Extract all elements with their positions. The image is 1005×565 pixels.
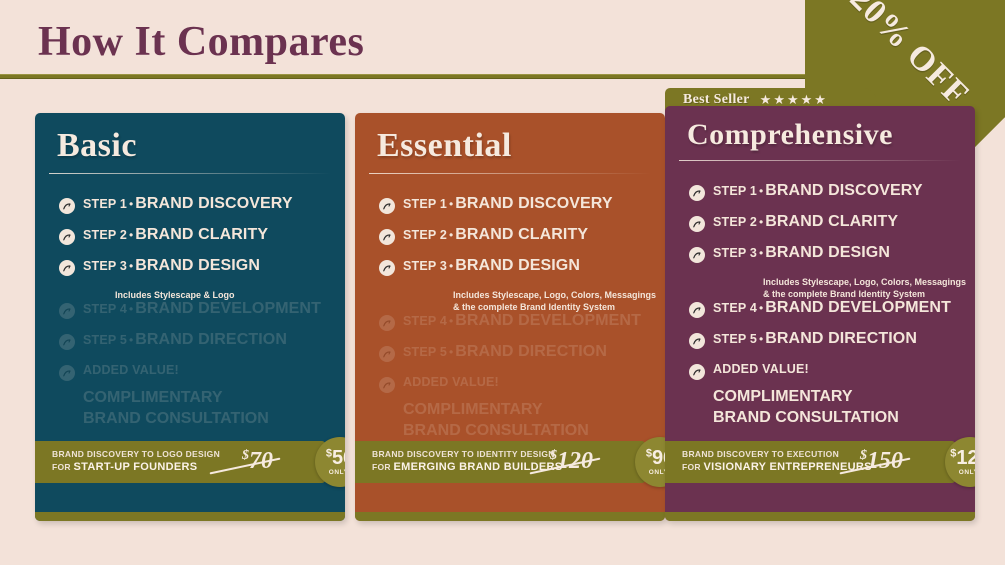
step-list: STEP 1•BRAND DISCOVERYSTEP 2•BRAND CLARI…: [35, 174, 345, 430]
step-label: STEP 3•BRAND DESIGN: [403, 257, 580, 274]
step-body: STEP 4•BRAND DEVELOPMENT: [403, 313, 641, 330]
step-number: STEP 4: [403, 314, 447, 328]
step-body: STEP 1•BRAND DISCOVERY: [713, 183, 923, 200]
pricing-cards-container: BasicSTEP 1•BRAND DISCOVERYSTEP 2•BRAND …: [0, 0, 1005, 565]
added-value-detail: COMPLIMENTARYBRAND CONSULTATION: [83, 388, 345, 430]
step-label: STEP 5•BRAND DIRECTION: [713, 330, 917, 347]
card-title: Essential: [355, 113, 665, 165]
check-swoosh-icon: [689, 364, 705, 380]
step-body: STEP 2•BRAND CLARITY: [83, 227, 268, 244]
pricing-card-comprehensive[interactable]: ComprehensiveSTEP 1•BRAND DISCOVERYSTEP …: [665, 106, 975, 521]
step-number: STEP 2: [83, 228, 127, 242]
step-label: STEP 5•BRAND DIRECTION: [403, 343, 607, 360]
step-item: STEP 2•BRAND CLARITY: [379, 227, 665, 245]
pricing-card-basic[interactable]: BasicSTEP 1•BRAND DISCOVERYSTEP 2•BRAND …: [35, 113, 345, 521]
step-item: STEP 3•BRAND DESIGN: [689, 245, 975, 263]
step-title: BRAND DEVELOPMENT: [765, 299, 951, 316]
price-footer-bar: BRAND DISCOVERY TO EXECUTIONFOR VISIONAR…: [665, 441, 955, 483]
card-bottom-strip: [665, 512, 975, 521]
currency-symbol: $: [860, 448, 867, 463]
check-swoosh-icon: [59, 198, 75, 214]
step-title: BRAND DESIGN: [455, 257, 580, 274]
step-body: STEP 4•BRAND DEVELOPMENT: [83, 301, 321, 318]
added-value-detail: COMPLIMENTARYBRAND CONSULTATION: [713, 387, 975, 429]
discounted-price: $96: [646, 448, 665, 468]
step-number: STEP 5: [403, 345, 447, 359]
step-title: BRAND DISCOVERY: [455, 195, 612, 212]
currency-symbol: $: [550, 448, 557, 463]
step-number: STEP 3: [83, 259, 127, 273]
step-title: BRAND CLARITY: [455, 226, 588, 243]
step-sub-note: Includes Stylescape, Logo, Colors, Messa…: [763, 276, 975, 300]
price-scope-line: BRAND DISCOVERY TO LOGO DESIGN: [52, 449, 220, 460]
step-body: STEP 3•BRAND DESIGN: [83, 258, 260, 275]
step-title: BRAND CLARITY: [765, 213, 898, 230]
card-title: Comprehensive: [665, 106, 975, 152]
check-swoosh-icon: [689, 333, 705, 349]
step-label: STEP 4•BRAND DEVELOPMENT: [403, 312, 641, 329]
check-swoosh-icon: [379, 229, 395, 245]
step-list: STEP 1•BRAND DISCOVERYSTEP 2•BRAND CLARI…: [355, 174, 665, 442]
step-label: STEP 4•BRAND DEVELOPMENT: [713, 299, 951, 316]
step-body: STEP 1•BRAND DISCOVERY: [83, 196, 293, 213]
step-label: STEP 2•BRAND CLARITY: [83, 226, 268, 243]
step-label: STEP 4•BRAND DEVELOPMENT: [83, 300, 321, 317]
step-item: STEP 1•BRAND DISCOVERY: [59, 196, 345, 214]
step-number: STEP 1: [83, 197, 127, 211]
step-label: STEP 2•BRAND CLARITY: [403, 226, 588, 243]
step-body: STEP 5•BRAND DIRECTION: [713, 331, 917, 348]
added-value-title: ADDED VALUE!: [403, 375, 499, 389]
step-title: BRAND DESIGN: [135, 257, 260, 274]
step-title: BRAND CLARITY: [135, 226, 268, 243]
step-number: STEP 2: [403, 228, 447, 242]
step-item: STEP 5•BRAND DIRECTION: [689, 331, 975, 349]
price-audience-line: FOR START-UP FOUNDERS: [52, 460, 220, 475]
check-swoosh-icon: [689, 216, 705, 232]
price-scope-line: BRAND DISCOVERY TO IDENTITY DESIGN: [372, 449, 562, 460]
check-swoosh-icon: [59, 260, 75, 276]
step-item: STEP 1•BRAND DISCOVERY: [689, 183, 975, 201]
only-label: ONLY!: [329, 469, 345, 476]
step-body: STEP 3•BRAND DESIGN: [713, 245, 890, 262]
only-label: ONLY!: [959, 469, 975, 476]
step-item: STEP 1•BRAND DISCOVERY: [379, 196, 665, 214]
step-number: STEP 2: [713, 215, 757, 229]
check-swoosh-icon: [379, 260, 395, 276]
discounted-price: $120: [950, 448, 975, 468]
step-title: BRAND DIRECTION: [135, 331, 287, 348]
step-title: BRAND DISCOVERY: [765, 182, 922, 199]
check-swoosh-icon: [59, 365, 75, 381]
step-label: STEP 5•BRAND DIRECTION: [83, 331, 287, 348]
step-title: BRAND DIRECTION: [765, 330, 917, 347]
step-number: STEP 5: [83, 333, 127, 347]
price-copy: BRAND DISCOVERY TO LOGO DESIGNFOR START-…: [52, 449, 220, 475]
step-label: STEP 3•BRAND DESIGN: [83, 257, 260, 274]
check-swoosh-icon: [379, 377, 395, 393]
step-title: BRAND DIRECTION: [455, 343, 607, 360]
step-item: STEP 4•BRAND DEVELOPMENT: [379, 313, 665, 331]
step-number: STEP 1: [713, 184, 757, 198]
step-item: STEP 5•BRAND DIRECTION: [379, 344, 665, 362]
step-label: STEP 1•BRAND DISCOVERY: [83, 195, 293, 212]
added-value-item: ADDED VALUE!: [379, 375, 665, 393]
price-scope-line: BRAND DISCOVERY TO EXECUTION: [682, 449, 872, 460]
step-item: STEP 2•BRAND CLARITY: [689, 214, 975, 232]
step-body: STEP 1•BRAND DISCOVERY: [403, 196, 613, 213]
check-swoosh-icon: [689, 185, 705, 201]
check-swoosh-icon: [379, 315, 395, 331]
step-body: STEP 3•BRAND DESIGN: [403, 258, 580, 275]
added-value-title: ADDED VALUE!: [83, 363, 179, 377]
only-label: ONLY!: [649, 469, 665, 476]
card-bottom-strip: [355, 512, 665, 521]
check-swoosh-icon: [59, 303, 75, 319]
step-title: BRAND DEVELOPMENT: [135, 300, 321, 317]
step-item: STEP 4•BRAND DEVELOPMENT: [59, 301, 345, 319]
pricing-card-essential[interactable]: EssentialSTEP 1•BRAND DISCOVERYSTEP 2•BR…: [355, 113, 665, 521]
step-item: STEP 3•BRAND DESIGN: [59, 258, 345, 276]
step-number: STEP 4: [713, 301, 757, 315]
step-number: STEP 3: [713, 246, 757, 260]
added-value-item: ADDED VALUE!: [59, 363, 345, 381]
step-title: BRAND DISCOVERY: [135, 195, 292, 212]
step-body: STEP 2•BRAND CLARITY: [713, 214, 898, 231]
discounted-price: $56: [326, 448, 345, 468]
added-value-detail: COMPLIMENTARYBRAND CONSULTATION: [403, 400, 665, 442]
step-sub-note: Includes Stylescape, Logo, Colors, Messa…: [453, 289, 665, 313]
currency-symbol: $: [242, 448, 249, 463]
step-number: STEP 1: [403, 197, 447, 211]
step-item: STEP 5•BRAND DIRECTION: [59, 332, 345, 350]
step-body: STEP 4•BRAND DEVELOPMENT: [713, 300, 951, 317]
step-title: BRAND DEVELOPMENT: [455, 312, 641, 329]
step-number: STEP 5: [713, 332, 757, 346]
check-swoosh-icon: [379, 198, 395, 214]
step-body: STEP 5•BRAND DIRECTION: [403, 344, 607, 361]
step-label: STEP 1•BRAND DISCOVERY: [713, 182, 923, 199]
step-item: STEP 2•BRAND CLARITY: [59, 227, 345, 245]
currency-symbol: $: [646, 447, 652, 459]
currency-symbol: $: [326, 447, 332, 459]
step-item: STEP 4•BRAND DEVELOPMENT: [689, 300, 975, 318]
check-swoosh-icon: [689, 247, 705, 263]
currency-symbol: $: [950, 447, 956, 459]
step-list: STEP 1•BRAND DISCOVERYSTEP 2•BRAND CLARI…: [665, 161, 975, 429]
step-body: STEP 2•BRAND CLARITY: [403, 227, 588, 244]
step-label: STEP 3•BRAND DESIGN: [713, 244, 890, 261]
added-value-item: ADDED VALUE!: [689, 362, 975, 380]
step-item: STEP 3•BRAND DESIGN: [379, 258, 665, 276]
step-label: STEP 1•BRAND DISCOVERY: [403, 195, 613, 212]
card-bottom-strip: [35, 512, 345, 521]
check-swoosh-icon: [379, 346, 395, 362]
step-label: STEP 2•BRAND CLARITY: [713, 213, 898, 230]
check-swoosh-icon: [59, 334, 75, 350]
price-footer-bar: BRAND DISCOVERY TO IDENTITY DESIGNFOR EM…: [355, 441, 645, 483]
price-footer-bar: BRAND DISCOVERY TO LOGO DESIGNFOR START-…: [35, 441, 325, 483]
card-title: Basic: [35, 113, 345, 165]
step-body: STEP 5•BRAND DIRECTION: [83, 332, 287, 349]
step-number: STEP 4: [83, 302, 127, 316]
check-swoosh-icon: [689, 302, 705, 318]
step-number: STEP 3: [403, 259, 447, 273]
added-value-title: ADDED VALUE!: [713, 362, 809, 376]
check-swoosh-icon: [59, 229, 75, 245]
step-title: BRAND DESIGN: [765, 244, 890, 261]
